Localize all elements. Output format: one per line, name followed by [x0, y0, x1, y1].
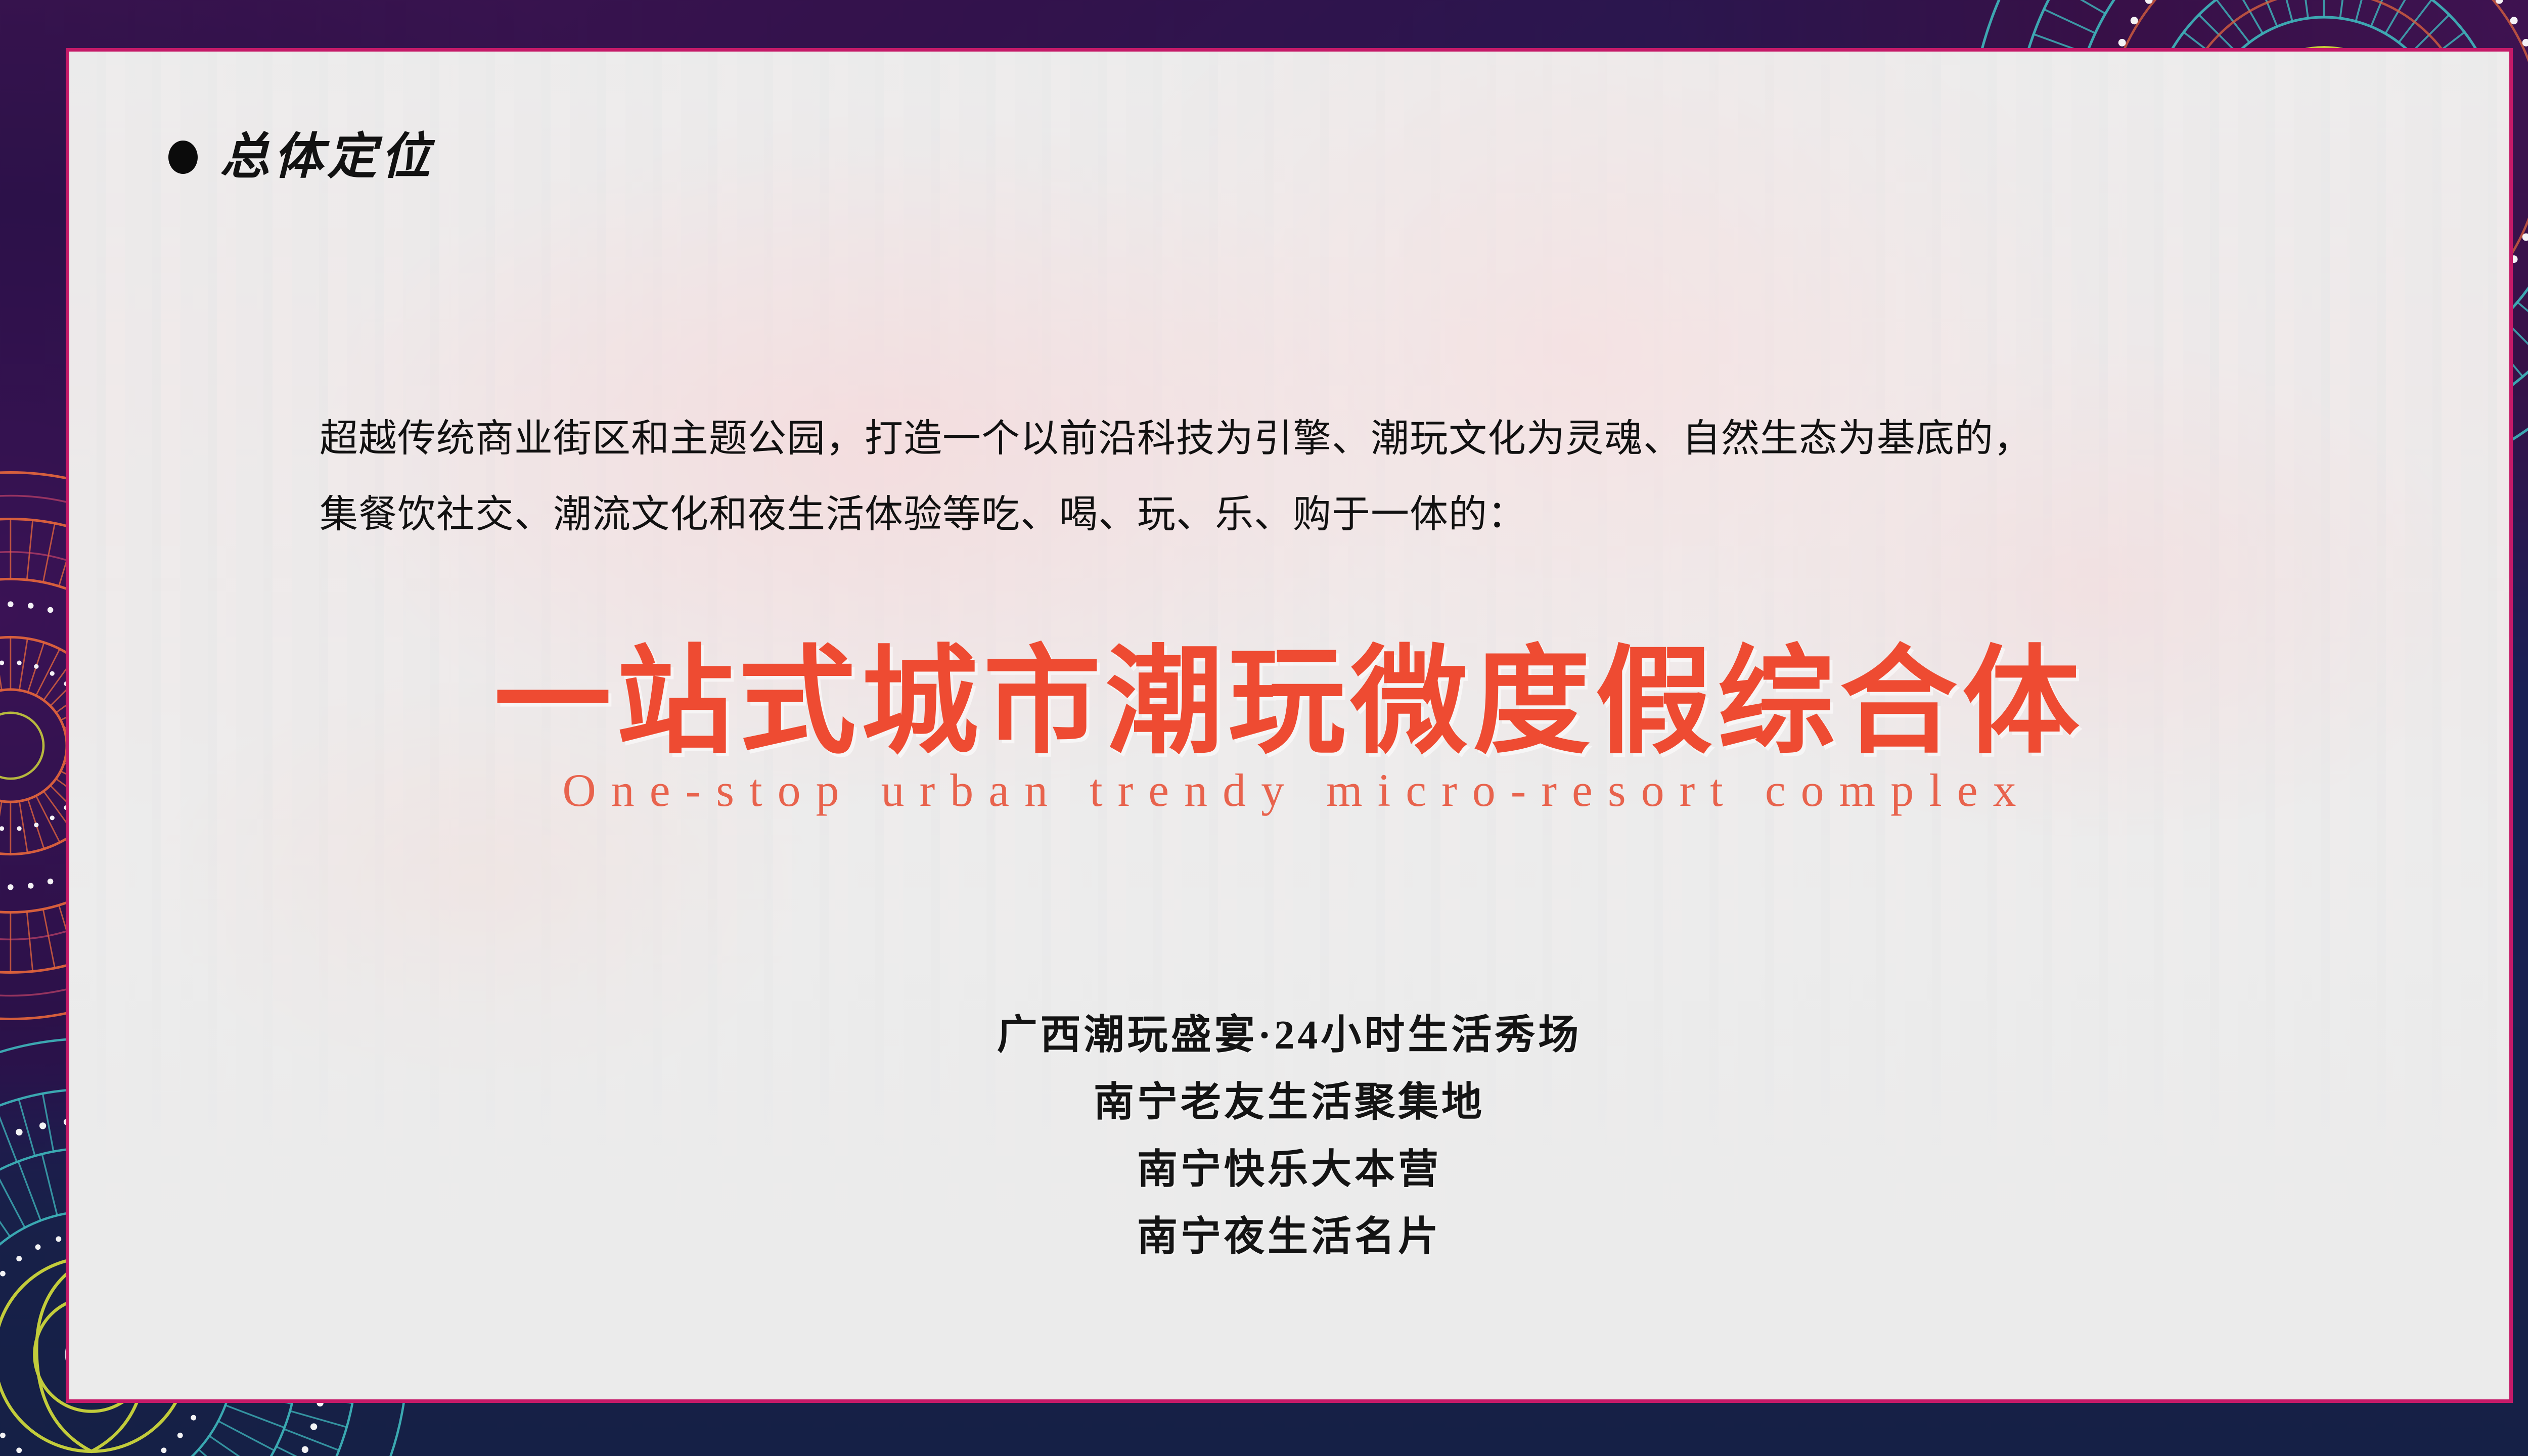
body-line: 超越传统商业街区和主题公园，打造一个以前沿科技为引擎、潮玩文化为灵魂、自然生态为… — [320, 400, 2392, 476]
tagline-item: 南宁快乐大本营 — [69, 1136, 2509, 1204]
body-line: 集餐饮社交、潮流文化和夜生活体验等吃、喝、玩、乐、购于一体的： — [320, 476, 2392, 552]
bullet-dot-icon — [168, 141, 198, 174]
tagline-item: 南宁老友生活聚集地 — [69, 1069, 2509, 1136]
slide-root: 总体定位 超越传统商业街区和主题公园，打造一个以前沿科技为引擎、潮玩文化为灵魂、… — [0, 0, 2528, 1456]
headline-main: 一站式城市潮玩微度假综合体 — [69, 638, 2509, 765]
section-heading: 总体定位 — [168, 132, 434, 182]
tagline-list: 广西潮玩盛宴·24小时生活秀场 南宁老友生活聚集地 南宁快乐大本营 南宁夜生活名… — [69, 1002, 2509, 1271]
body-paragraph: 超越传统商业街区和主题公园，打造一个以前沿科技为引擎、潮玩文化为灵魂、自然生态为… — [320, 400, 2392, 552]
tagline-item: 广西潮玩盛宴·24小时生活秀场 — [69, 1002, 2509, 1069]
headline-subtitle: One-stop urban trendy micro-resort compl… — [69, 767, 2509, 813]
content-panel: 总体定位 超越传统商业街区和主题公园，打造一个以前沿科技为引擎、潮玩文化为灵魂、… — [66, 48, 2513, 1403]
page-title: 总体定位 — [220, 132, 434, 182]
tagline-item: 南宁夜生活名片 — [69, 1204, 2509, 1271]
headline-block: 一站式城市潮玩微度假综合体 One-stop urban trendy micr… — [69, 638, 2509, 813]
panel-content: 总体定位 超越传统商业街区和主题公园，打造一个以前沿科技为引擎、潮玩文化为灵魂、… — [69, 52, 2509, 1399]
